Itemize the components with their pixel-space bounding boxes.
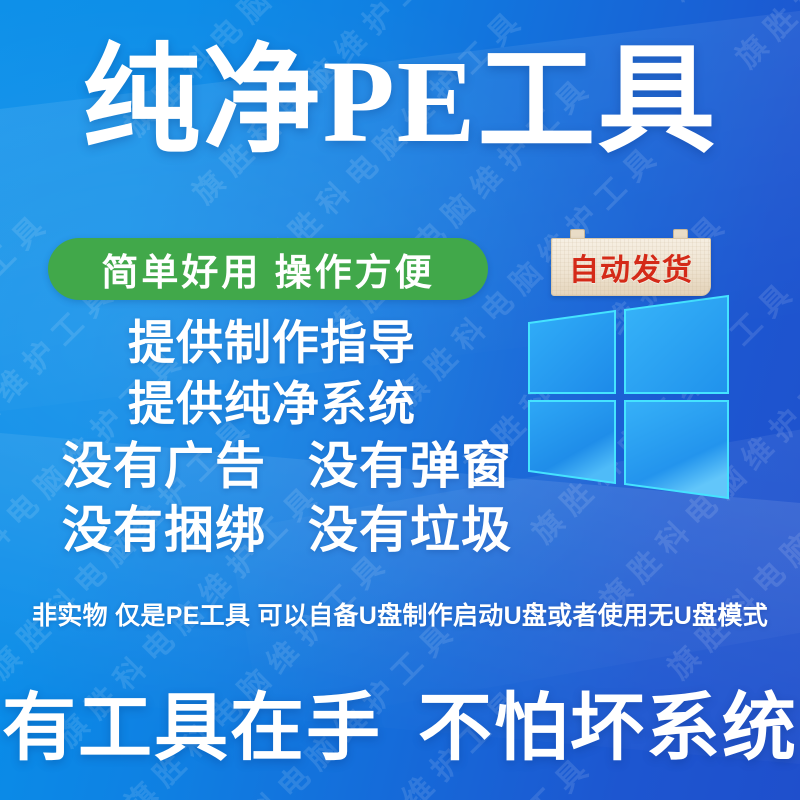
auto-delivery-label: 自动发货 [569, 245, 693, 289]
promo-poster: 旗胜科电脑维护工具旗胜科电脑维护工具旗胜科电脑维护工具旗胜科电脑维护工具旗胜科电… [0, 0, 800, 800]
feature-text: 没有弹窗 [308, 434, 512, 498]
feature-row: 没有捆绑没有垃圾 [0, 498, 800, 562]
page-title: 纯净PE工具 [0, 36, 800, 168]
auto-delivery-banner: 自动发货 [551, 238, 711, 296]
benefit-pill-badge: 简单好用 操作方便 [48, 238, 488, 300]
feature-text: 没有垃圾 [308, 498, 512, 562]
feature-row: 提供制作指导 [0, 312, 800, 373]
banner-paper: 自动发货 [551, 238, 711, 296]
fineprint-note: 非实物 仅是PE工具 可以自备U盘制作启动U盘或者使用无U盘模式 [0, 596, 800, 632]
feature-text: 没有广告 [62, 434, 266, 498]
benefit-pill-label: 简单好用 操作方便 [101, 242, 434, 296]
feature-row: 没有广告没有弹窗 [0, 434, 800, 498]
feature-text: 提供纯净系统 [128, 373, 416, 434]
slogan-right: 不怕坏系统 [418, 688, 798, 770]
slogan-left: 有工具在手 [2, 688, 382, 770]
feature-text: 提供制作指导 [128, 312, 416, 373]
feature-text: 没有捆绑 [62, 498, 266, 562]
feature-list: 提供制作指导提供纯净系统没有广告没有弹窗没有捆绑没有垃圾 [0, 312, 800, 562]
feature-row: 提供纯净系统 [0, 373, 800, 434]
bottom-slogan: 有工具在手不怕坏系统 [0, 668, 800, 775]
